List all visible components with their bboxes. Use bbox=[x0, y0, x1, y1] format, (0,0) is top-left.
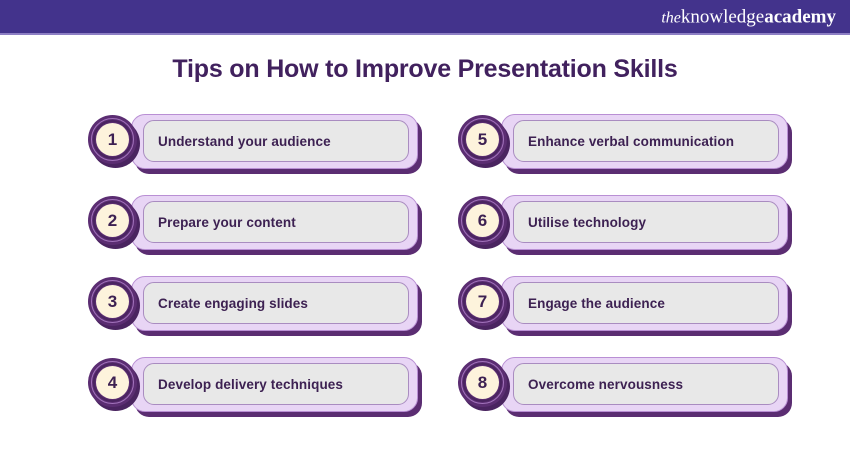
tip-item-4[interactable]: Develop delivery techniques 4 bbox=[88, 355, 418, 417]
tip-number-badge: 8 bbox=[458, 358, 511, 411]
tip-number-badge: 2 bbox=[88, 196, 141, 249]
tip-item-1[interactable]: Understand your audience 1 bbox=[88, 112, 418, 174]
badge-number: 5 bbox=[478, 131, 487, 148]
tip-item-6[interactable]: Utilise technology 6 bbox=[458, 193, 788, 255]
badge-number: 7 bbox=[478, 293, 487, 310]
tip-item-3[interactable]: Create engaging slides 3 bbox=[88, 274, 418, 336]
badge-core-disc: 7 bbox=[466, 285, 499, 318]
badge-core-disc: 1 bbox=[96, 123, 129, 156]
badge-number: 8 bbox=[478, 374, 487, 391]
tip-label: Utilise technology bbox=[514, 215, 646, 230]
tip-number-badge: 3 bbox=[88, 277, 141, 330]
tip-label: Enhance verbal communication bbox=[514, 134, 734, 149]
badge-number: 4 bbox=[108, 374, 117, 391]
page-title: Tips on How to Improve Presentation Skil… bbox=[0, 55, 850, 84]
tip-label: Understand your audience bbox=[144, 134, 331, 149]
tip-text-box: Understand your audience bbox=[143, 120, 409, 162]
tip-label: Prepare your content bbox=[144, 215, 296, 230]
badge-core-disc: 3 bbox=[96, 285, 129, 318]
tip-number-badge: 7 bbox=[458, 277, 511, 330]
tip-number-badge: 4 bbox=[88, 358, 141, 411]
tip-label: Develop delivery techniques bbox=[144, 377, 343, 392]
tips-grid: Understand your audience 1 Prepare your … bbox=[0, 112, 850, 432]
tip-item-7[interactable]: Engage the audience 7 bbox=[458, 274, 788, 336]
tip-text-box: Prepare your content bbox=[143, 201, 409, 243]
badge-core-disc: 4 bbox=[96, 366, 129, 399]
badge-core-disc: 2 bbox=[96, 204, 129, 237]
brand-logo-the: the bbox=[661, 9, 681, 26]
tip-number-badge: 1 bbox=[88, 115, 141, 168]
badge-core-disc: 8 bbox=[466, 366, 499, 399]
tip-text-box: Overcome nervousness bbox=[513, 363, 779, 405]
tip-item-2[interactable]: Prepare your content 2 bbox=[88, 193, 418, 255]
header-underline-divider bbox=[0, 33, 850, 35]
tip-item-5[interactable]: Enhance verbal communication 5 bbox=[458, 112, 788, 174]
tip-text-box: Enhance verbal communication bbox=[513, 120, 779, 162]
tip-number-badge: 5 bbox=[458, 115, 511, 168]
badge-number: 6 bbox=[478, 212, 487, 229]
badge-core-disc: 5 bbox=[466, 123, 499, 156]
tip-text-box: Develop delivery techniques bbox=[143, 363, 409, 405]
tip-number-badge: 6 bbox=[458, 196, 511, 249]
badge-core-disc: 6 bbox=[466, 204, 499, 237]
header-bar: theknowledgeacademy bbox=[0, 0, 850, 33]
badge-number: 3 bbox=[108, 293, 117, 310]
tip-text-box: Engage the audience bbox=[513, 282, 779, 324]
brand-logo[interactable]: theknowledgeacademy bbox=[661, 7, 836, 26]
badge-number: 2 bbox=[108, 212, 117, 229]
tip-text-box: Utilise technology bbox=[513, 201, 779, 243]
badge-number: 1 bbox=[108, 131, 117, 148]
brand-logo-knowledge: knowledge bbox=[681, 6, 764, 27]
brand-logo-academy: academy bbox=[764, 6, 836, 27]
tip-label: Overcome nervousness bbox=[514, 377, 683, 392]
tip-label: Create engaging slides bbox=[144, 296, 308, 311]
tip-item-8[interactable]: Overcome nervousness 8 bbox=[458, 355, 788, 417]
tip-text-box: Create engaging slides bbox=[143, 282, 409, 324]
tip-label: Engage the audience bbox=[514, 296, 665, 311]
